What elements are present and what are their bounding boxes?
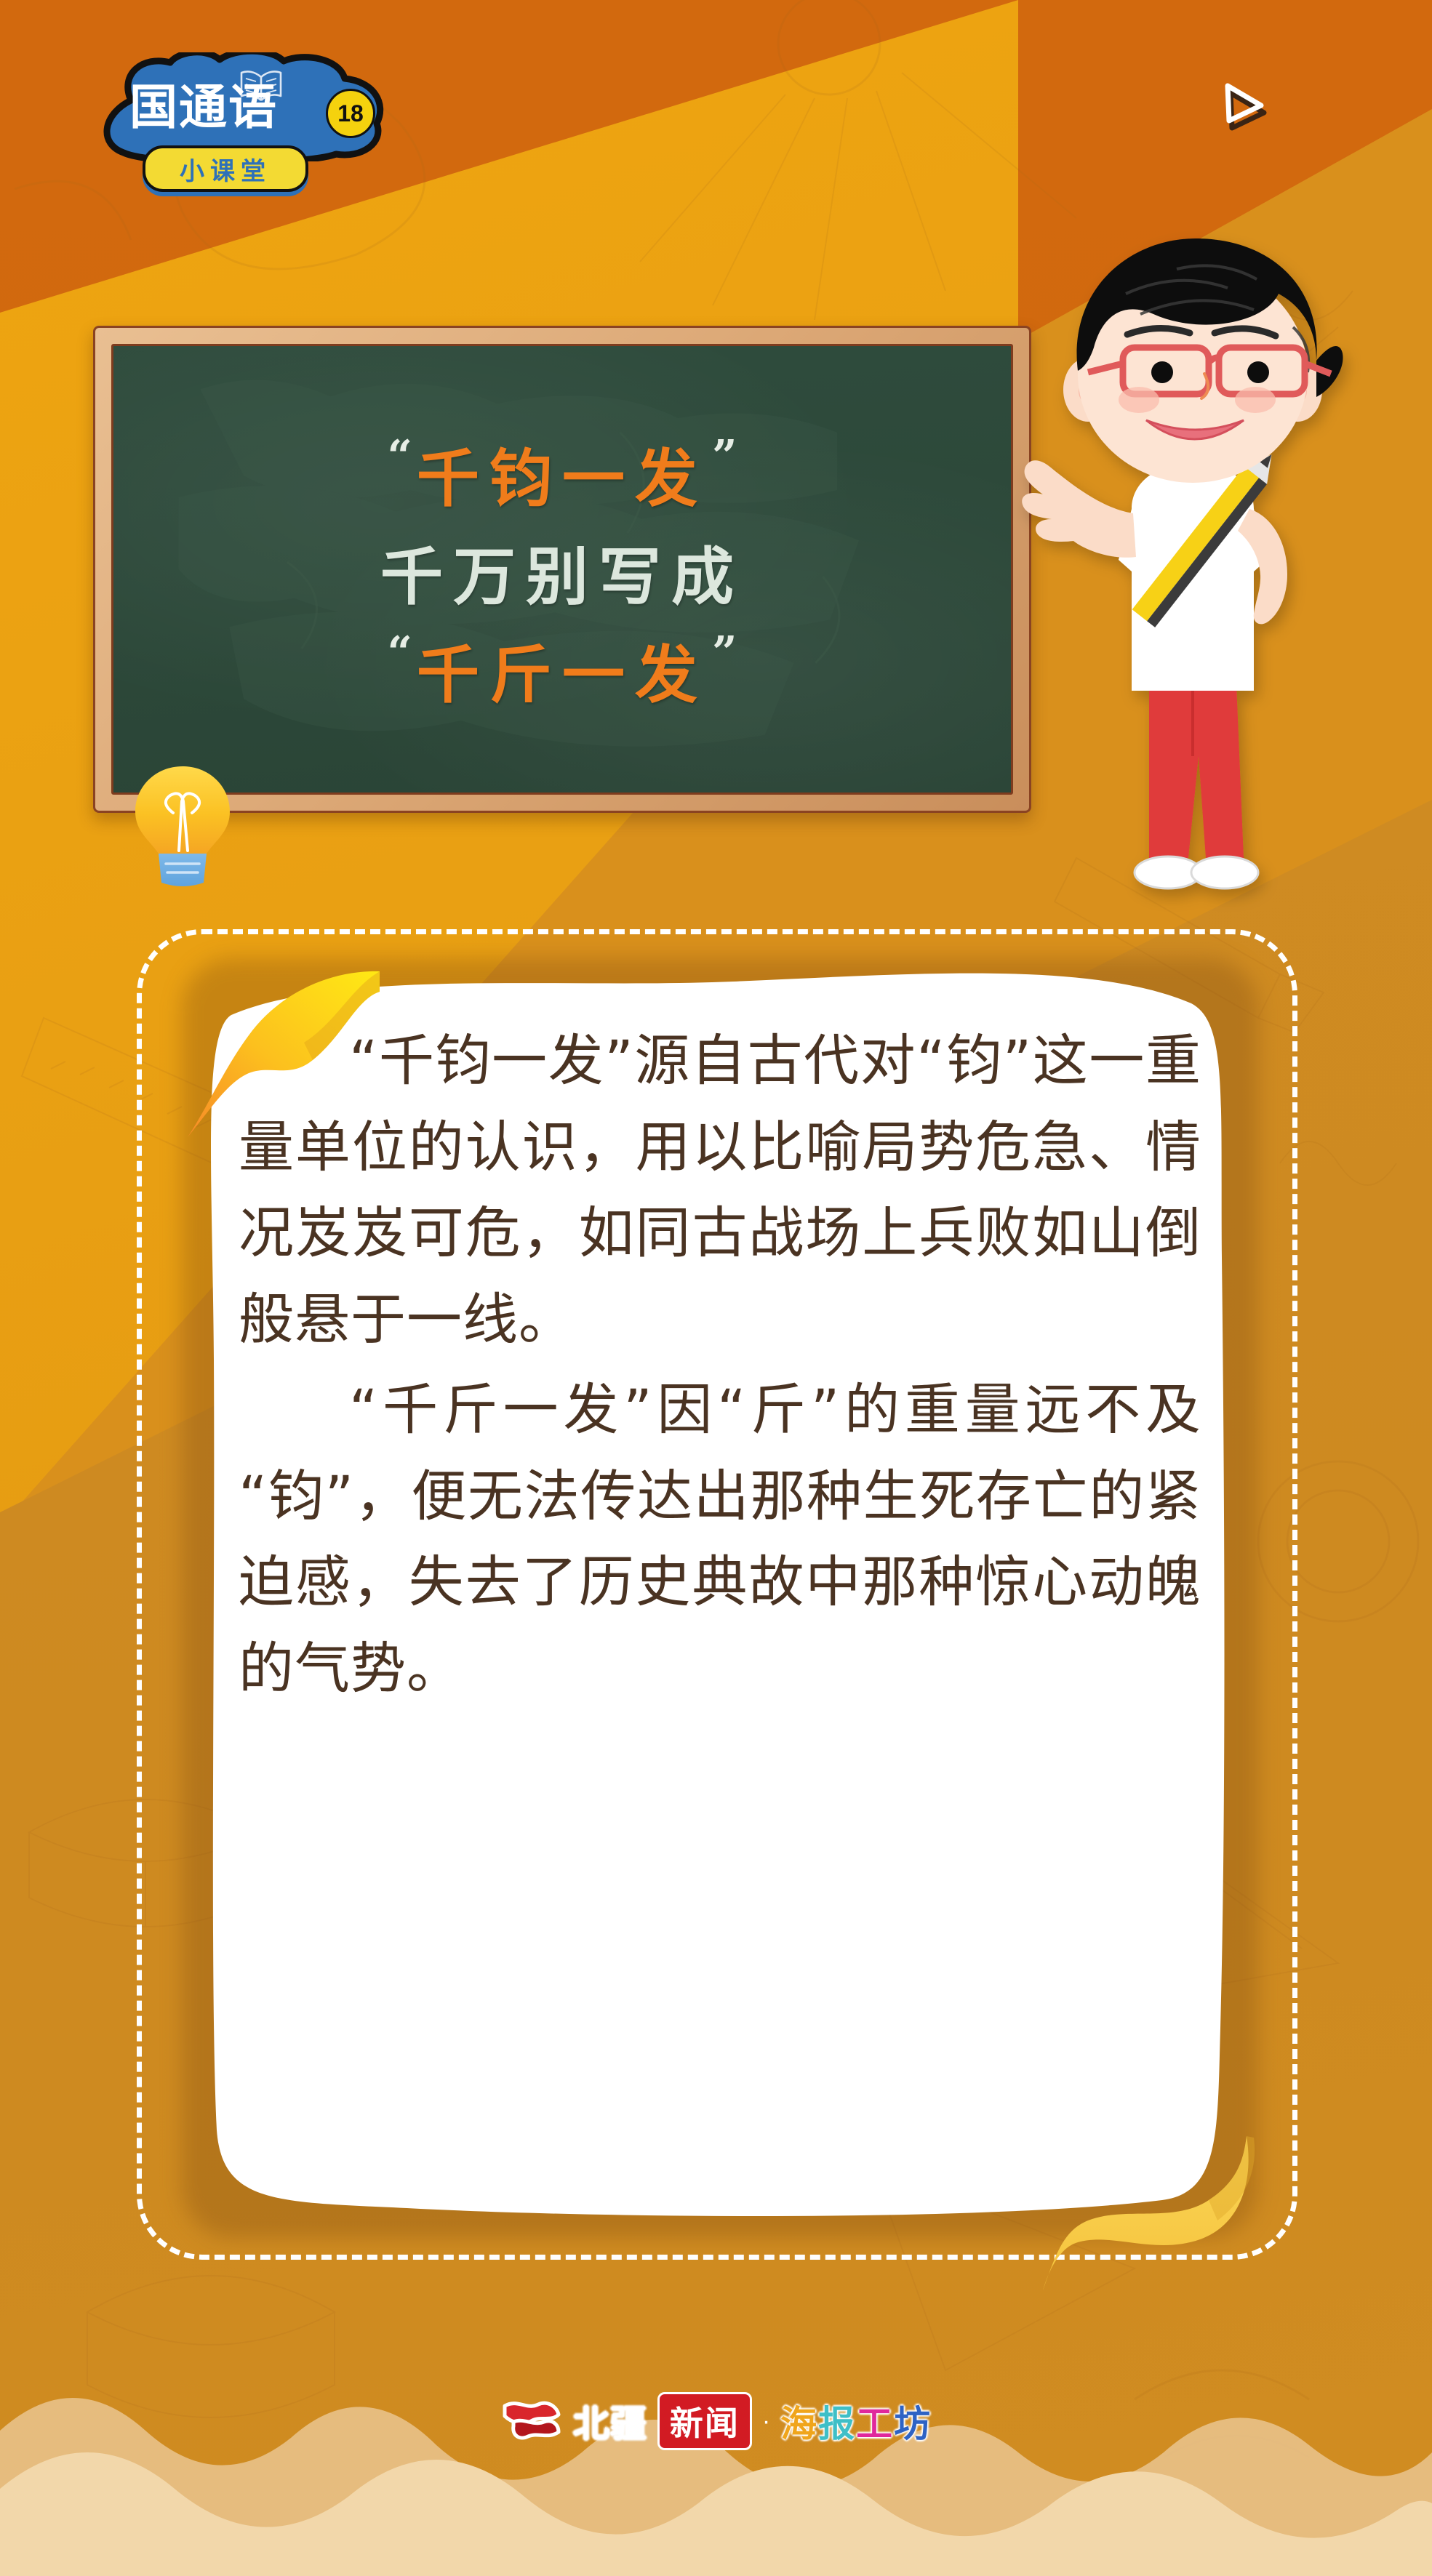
red-flag-icon: [500, 2397, 563, 2445]
footer-studio-char-1: 海: [780, 2402, 818, 2445]
quote-open-1: “: [383, 435, 417, 478]
blackboard-line-2: 千万别写成: [113, 526, 1011, 617]
paragraph-2: “千斤一发”因“斤”的重量远不及“钧”，便无法传达出那种生死存亡的紧迫感，失去了…: [239, 1367, 1201, 1712]
footer-studio-char-2: 报: [818, 2402, 856, 2445]
footer-news-tag: 新闻: [657, 2392, 752, 2450]
footer-studio-char-4: 坊: [894, 2402, 932, 2445]
footer-branding: 北疆 新闻 · 海报工坊: [0, 2386, 1432, 2456]
article-body: “千钧一发”源自古代对“钧”这一重量单位的认识，用以比喻局势危急、情况岌岌可危，…: [218, 1018, 1222, 2181]
quote-close-2: ”: [708, 631, 742, 675]
blackboard-line-3-text: 千斤一发: [417, 624, 708, 715]
schoolboy-character: [959, 218, 1424, 960]
blackboard-line-1: “ 千钧一发 ”: [113, 428, 1011, 518]
blackboard-line-1-text: 千钧一发: [417, 428, 708, 518]
footer-studio-char-3: 工: [856, 2402, 894, 2445]
blackboard-line-3: “ 千斤一发 ”: [113, 624, 1011, 715]
footer-separator: ·: [762, 2409, 770, 2433]
logo-block: 国通语 18 小课堂: [86, 52, 391, 198]
logo-subtitle: 小课堂: [143, 145, 308, 192]
paragraph-1: “千钧一发”源自古代对“钧”这一重量单位的认识，用以比喻局势危急、情况岌岌可危，…: [239, 1018, 1201, 1363]
footer-brand: 北疆: [573, 2395, 647, 2447]
quote-close-1: ”: [708, 435, 742, 478]
poster-root: 国通语 18 小课堂: [0, 0, 1432, 2576]
footer-studio: 海报工坊: [780, 2395, 932, 2447]
play-triangle-icon[interactable]: [1222, 80, 1273, 132]
quote-open-2: “: [383, 631, 417, 675]
logo-title: 国通语: [129, 83, 348, 131]
blackboard-line-2-text: 千万别写成: [380, 526, 744, 617]
logo-episode-badge: 18: [326, 89, 375, 138]
blackboard-surface: “ 千钧一发 ” 千万别写成 “ 千斤一发 ”: [111, 344, 1013, 795]
blackboard-frame: “ 千钧一发 ” 千万别写成 “ 千斤一发 ”: [93, 326, 1031, 813]
decorative-hills: [0, 2343, 1432, 2576]
lightbulb-icon: [128, 762, 237, 889]
